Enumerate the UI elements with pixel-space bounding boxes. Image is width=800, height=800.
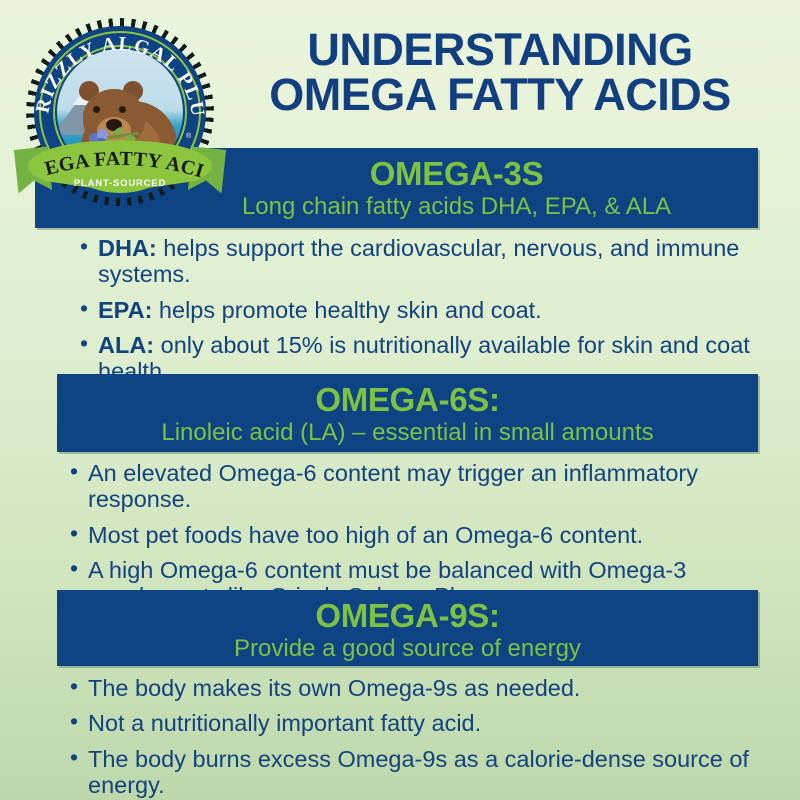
bullet-text: The body burns excess Omega-9s as a calo… xyxy=(88,746,749,798)
bullet-text: Most pet foods have too high of an Omega… xyxy=(88,522,643,548)
list-item: EPA: helps promote healthy skin and coat… xyxy=(78,297,768,323)
page-title-line-1: UNDERSTANDING xyxy=(220,28,780,73)
ribbon-label: OMEGA FATTY ACIDS xyxy=(14,140,207,183)
bullet-list-omega-3: DHA: helps support the cardiovascular, n… xyxy=(78,235,768,394)
page-title-line-2: OMEGA FATTY ACIDS xyxy=(220,73,780,118)
list-item: Most pet foods have too high of an Omega… xyxy=(68,522,768,548)
bullet-list-omega-9: The body makes its own Omega-9s as neede… xyxy=(68,675,768,800)
bullet-text: An elevated Omega-6 content may trigger … xyxy=(88,460,698,512)
ribbon-sublabel: PLANT-SOURCED xyxy=(74,178,166,189)
trademark-symbol: ® xyxy=(186,132,192,140)
list-item: Not a nutritionally important fatty acid… xyxy=(68,710,768,736)
section-header-omega-6: OMEGA-6S: Linoleic acid (LA) – essential… xyxy=(57,374,758,452)
list-item: An elevated Omega-6 content may trigger … xyxy=(68,460,768,513)
brand-logo: GRIZZLY ALGAL PLUS ® OMEGA FATTY ACIDS P… xyxy=(14,18,226,208)
section-heading: OMEGA-6S: xyxy=(57,374,758,416)
bullet-text: helps promote healthy skin and coat. xyxy=(152,297,541,323)
bullet-text: Not a nutritionally important fatty acid… xyxy=(88,710,481,736)
infographic-poster: UNDERSTANDING OMEGA FATTY ACIDS OMEGA-3S… xyxy=(0,0,800,800)
ribbon-banner: OMEGA FATTY ACIDS PLANT-SOURCED xyxy=(14,140,226,208)
page-title: UNDERSTANDING OMEGA FATTY ACIDS xyxy=(220,28,780,117)
ribbon-text-group: OMEGA FATTY ACIDS PLANT-SOURCED xyxy=(14,140,226,208)
bullet-text: helps support the cardiovascular, nervou… xyxy=(98,235,739,287)
list-item: The body burns excess Omega-9s as a calo… xyxy=(68,746,768,799)
bullet-label: ALA: xyxy=(98,332,154,358)
section-header-omega-9: OMEGA-9S: Provide a good source of energ… xyxy=(57,590,758,666)
bullet-label: EPA: xyxy=(98,297,152,323)
section-heading: OMEGA-9S: xyxy=(57,590,758,632)
bullet-label: DHA: xyxy=(98,235,157,261)
svg-text:OMEGA FATTY ACIDS: OMEGA FATTY ACIDS xyxy=(14,140,207,183)
brand-arc-label: GRIZZLY ALGAL PLUS xyxy=(26,18,208,119)
bullet-text: The body makes its own Omega-9s as neede… xyxy=(88,675,580,701)
list-item: DHA: helps support the cardiovascular, n… xyxy=(78,235,768,288)
svg-text:GRIZZLY ALGAL PLUS: GRIZZLY ALGAL PLUS xyxy=(26,18,208,119)
list-item: The body makes its own Omega-9s as neede… xyxy=(68,675,768,701)
section-subheading: Provide a good source of energy xyxy=(57,632,758,663)
section-subheading: Linoleic acid (LA) – essential in small … xyxy=(57,416,758,447)
